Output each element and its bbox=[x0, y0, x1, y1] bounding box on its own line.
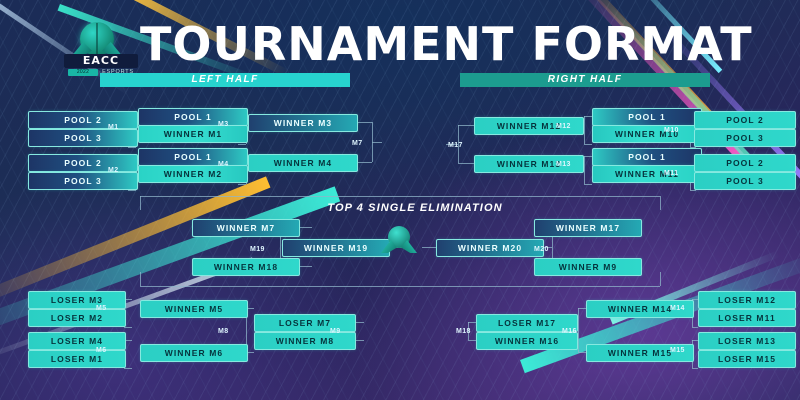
connector-line bbox=[578, 352, 586, 353]
bracket-slot[interactable]: WINNER M19 bbox=[282, 239, 390, 257]
bracket-slot[interactable]: WINNER M4 bbox=[248, 154, 358, 172]
bracket-slot[interactable]: POOL 2 bbox=[28, 154, 138, 172]
bracket-slot[interactable]: WINNER M1 bbox=[138, 125, 248, 143]
match-id-tag: M19 bbox=[250, 243, 265, 256]
bracket-slot[interactable]: POOL 3 bbox=[694, 172, 796, 190]
right-half-banner: RIGHT HALF bbox=[460, 73, 710, 87]
match-id-tag: M17 bbox=[448, 139, 463, 152]
match-id-tag: M2 bbox=[108, 164, 119, 177]
eacc-wordmark: EACC bbox=[64, 54, 138, 68]
connector-line bbox=[124, 327, 132, 328]
left-half-banner: LEFT HALF bbox=[100, 73, 350, 87]
match-id-tag: M15 bbox=[670, 344, 685, 357]
connector-line bbox=[458, 125, 474, 126]
bracket-slot[interactable]: LOSER M4 bbox=[28, 332, 126, 350]
bracket-slot[interactable]: POOL 2 bbox=[28, 111, 138, 129]
bracket-slot[interactable]: POOL 2 bbox=[694, 154, 796, 172]
connector-line bbox=[356, 122, 372, 123]
connector-line bbox=[140, 272, 141, 286]
match-id-tag: M14 bbox=[670, 302, 685, 315]
connector-line bbox=[692, 368, 698, 369]
match-id-tag: M6 bbox=[96, 344, 107, 357]
connector-line bbox=[372, 142, 382, 143]
bracket-slot[interactable]: LOSER M7 bbox=[254, 314, 356, 332]
bracket-slot[interactable]: LOSER M11 bbox=[698, 309, 796, 327]
connector-line bbox=[468, 340, 476, 341]
connector-line bbox=[140, 196, 141, 210]
connector-line bbox=[584, 156, 585, 184]
bracket-slot[interactable]: POOL 3 bbox=[28, 172, 138, 190]
bracket-slot[interactable]: POOL 2 bbox=[694, 111, 796, 129]
bracket-slot[interactable]: LOSER M3 bbox=[28, 291, 126, 309]
bracket-slot[interactable]: WINNER M20 bbox=[436, 239, 544, 257]
connector-line bbox=[458, 163, 474, 164]
bracket-slot[interactable]: WINNER M3 bbox=[248, 114, 358, 132]
match-id-tag: M12 bbox=[556, 120, 571, 133]
eacc-logo-year: 2022 bbox=[68, 69, 98, 76]
connector-line bbox=[422, 247, 436, 248]
connector-line bbox=[128, 147, 136, 148]
connector-line bbox=[578, 308, 586, 309]
bracket-slot[interactable]: POOL 1 bbox=[592, 148, 702, 166]
eacc-logo: EACC 2022 ESPORTS bbox=[64, 22, 138, 78]
match-id-tag: M18 bbox=[456, 325, 471, 338]
connector-line bbox=[660, 272, 661, 286]
eacc-emblem-icon bbox=[381, 226, 417, 260]
bracket-slot[interactable]: WINNER M6 bbox=[140, 344, 248, 362]
bracket-slot[interactable]: LOSER M13 bbox=[698, 332, 796, 350]
connector-line bbox=[140, 196, 660, 197]
eacc-ball-seam bbox=[96, 23, 98, 55]
bracket-slot[interactable]: WINNER M18 bbox=[192, 258, 300, 276]
connector-line bbox=[356, 162, 372, 163]
bracket-slot[interactable]: LOSER M12 bbox=[698, 291, 796, 309]
connector-line bbox=[584, 116, 592, 117]
bracket-slot[interactable]: WINNER M10 bbox=[592, 125, 702, 143]
match-id-tag: M4 bbox=[218, 158, 229, 171]
bracket-slot[interactable]: WINNER M2 bbox=[138, 165, 248, 183]
connector-line bbox=[692, 327, 698, 328]
match-id-tag: M10 bbox=[664, 124, 679, 137]
match-id-tag: M8 bbox=[218, 325, 229, 338]
connector-line bbox=[128, 190, 136, 191]
match-id-tag: M13 bbox=[556, 158, 571, 171]
bracket-slot[interactable]: WINNER M5 bbox=[140, 300, 248, 318]
bracket-slot[interactable]: LOSER M15 bbox=[698, 350, 796, 368]
match-id-tag: M9 bbox=[330, 325, 341, 338]
connector-line bbox=[584, 144, 592, 145]
bracket-slot[interactable]: POOL 1 bbox=[138, 108, 248, 126]
bracket-slot[interactable]: POOL 1 bbox=[138, 148, 248, 166]
match-id-tag: M5 bbox=[96, 302, 107, 315]
bracket-slot[interactable]: POOL 3 bbox=[28, 129, 138, 147]
connector-line bbox=[690, 190, 696, 191]
connector-line bbox=[124, 368, 132, 369]
connector-line bbox=[140, 286, 660, 287]
match-id-tag: M16 bbox=[562, 325, 577, 338]
match-id-tag: M11 bbox=[664, 167, 678, 180]
match-id-tag: M1 bbox=[108, 121, 119, 134]
match-id-tag: M3 bbox=[218, 118, 229, 131]
connector-line bbox=[298, 227, 312, 228]
connector-line bbox=[578, 308, 579, 352]
connector-line bbox=[584, 184, 592, 185]
page-title: TOURNAMENT FORMAT bbox=[140, 18, 740, 70]
bracket-slot[interactable]: LOSER M2 bbox=[28, 309, 126, 327]
bracket-slot[interactable]: WINNER M7 bbox=[192, 219, 300, 237]
connector-line bbox=[238, 144, 246, 145]
tournament-format-infographic: EACC 2022 ESPORTS TOURNAMENT FORMAT LEFT… bbox=[0, 0, 800, 400]
connector-line bbox=[584, 116, 585, 144]
connector-line bbox=[468, 322, 476, 323]
connector-line bbox=[584, 156, 592, 157]
bracket-slot[interactable]: POOL 3 bbox=[694, 129, 796, 147]
connector-line bbox=[298, 266, 312, 267]
bracket-slot[interactable]: WINNER M17 bbox=[534, 219, 642, 237]
bracket-slot[interactable]: WINNER M11 bbox=[592, 165, 702, 183]
bracket-slot[interactable]: WINNER M8 bbox=[254, 332, 356, 350]
match-id-tag: M7 bbox=[352, 137, 363, 150]
connector-line bbox=[660, 196, 661, 210]
bracket-slot[interactable]: LOSER M1 bbox=[28, 350, 126, 368]
connector-line bbox=[238, 184, 246, 185]
bracket-slot[interactable]: WINNER M9 bbox=[534, 258, 642, 276]
match-id-tag: M20 bbox=[534, 243, 549, 256]
bracket-slot[interactable]: POOL 1 bbox=[592, 108, 702, 126]
center-stage-label: TOP 4 SINGLE ELIMINATION bbox=[300, 200, 530, 216]
